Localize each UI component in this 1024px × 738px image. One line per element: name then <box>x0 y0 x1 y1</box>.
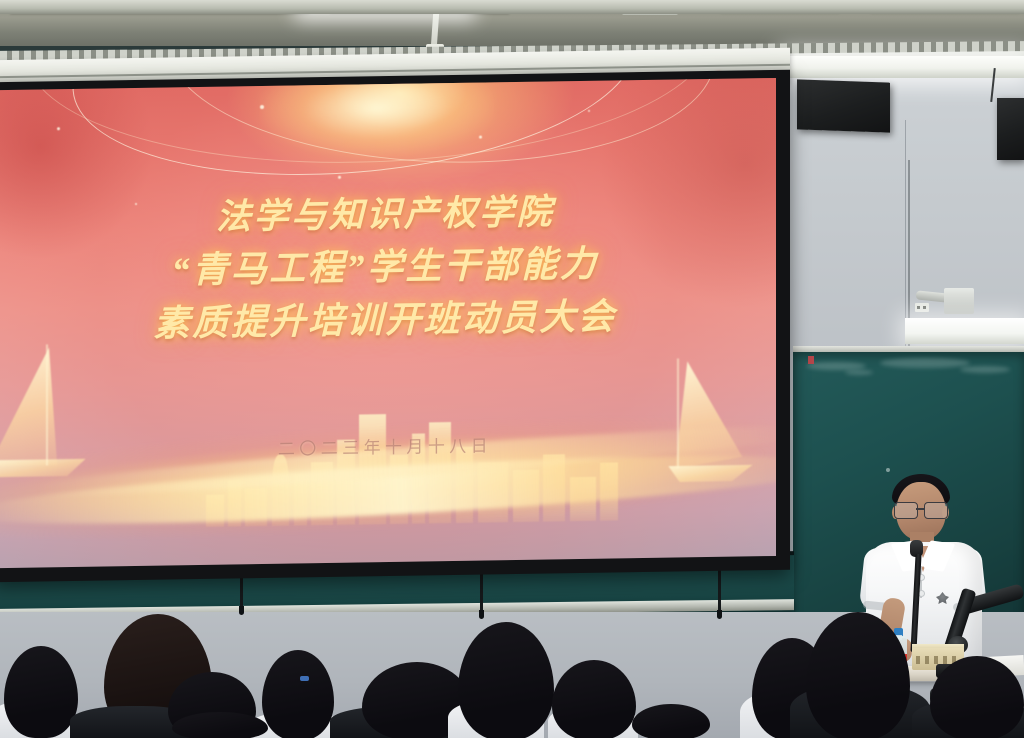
wall-outlet <box>915 303 929 312</box>
wall-speaker-right <box>997 98 1024 160</box>
chalk-smudge <box>845 370 873 375</box>
sailboat-left-graphic <box>0 347 88 492</box>
hanging-cord-tip <box>239 606 244 615</box>
audience-head <box>172 712 268 738</box>
chalk-smudge <box>880 358 970 368</box>
projection-screen-frame: 法学与知识产权学院 “青马工程”学生干部能力 素质提升培训开班动员大会 二〇二三… <box>0 70 790 583</box>
wall-lamp-shelf <box>905 318 1024 344</box>
ceiling-strip <box>0 0 1024 14</box>
audience-head <box>632 704 710 738</box>
wall-speaker-left <box>797 79 890 132</box>
screen-title-line-3: 素质提升培训开班动员大会 <box>0 288 776 354</box>
chalk-smudge <box>806 362 866 370</box>
projection-screen: 法学与知识产权学院 “青马工程”学生干部能力 素质提升培训开班动员大会 二〇二三… <box>0 78 776 568</box>
red-chalk-mark <box>808 356 814 364</box>
spark <box>260 105 264 109</box>
chalk-smudge <box>960 366 1010 373</box>
mount-bracket <box>944 288 974 314</box>
hanging-cord-tip <box>479 610 484 619</box>
hanging-cord <box>718 568 721 614</box>
hanging-cord-tip <box>717 610 722 619</box>
screen-title-block: 法学与知识产权学院 “青马工程”学生干部能力 素质提升培训开班动员大会 <box>0 183 776 354</box>
classroom-presentation-photo: 法学与知识产权学院 “青马工程”学生干部能力 素质提升培训开班动员大会 二〇二三… <box>0 0 1024 738</box>
spark <box>57 127 60 130</box>
spark <box>338 176 341 179</box>
hair-clip <box>300 676 309 681</box>
spark <box>479 135 482 138</box>
wall-fluorescent-light <box>786 56 1024 78</box>
eyeglasses-icon <box>894 502 948 517</box>
